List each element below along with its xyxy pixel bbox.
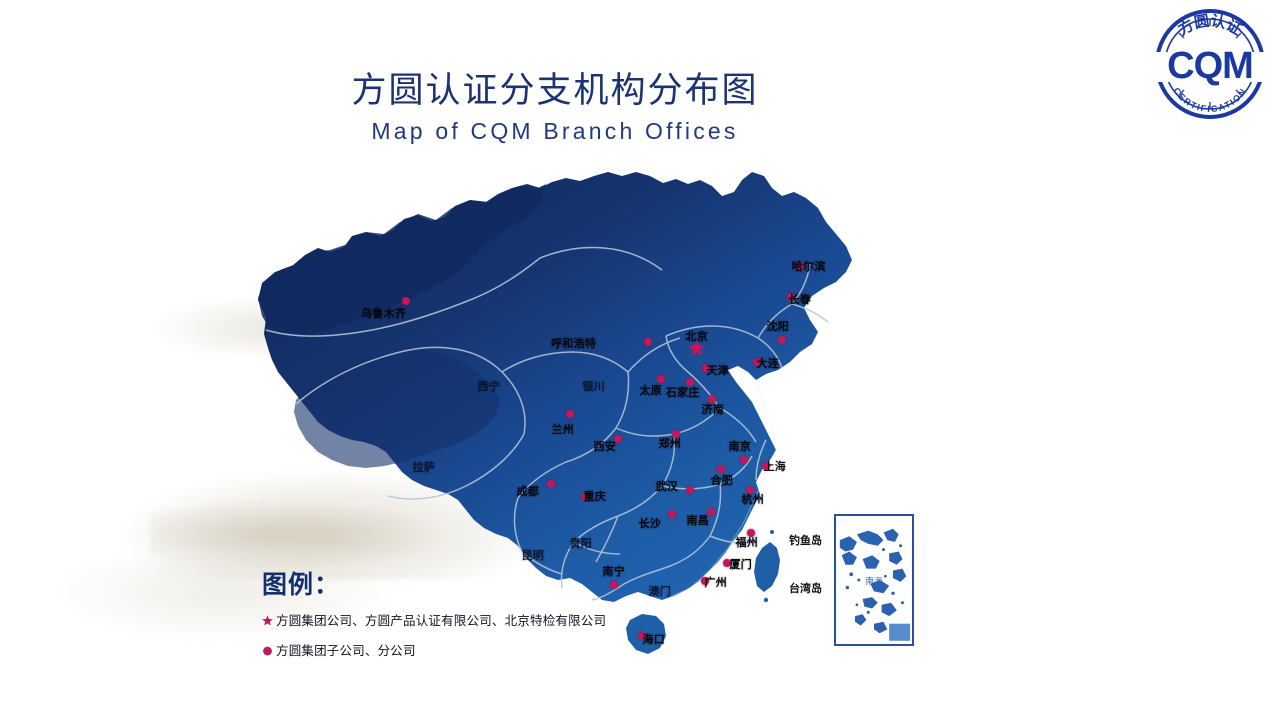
taiwan-island: [754, 542, 780, 592]
legend-title: 图例：: [262, 572, 606, 597]
city-dot-marker: [402, 297, 410, 305]
city-dot-marker: [686, 378, 694, 386]
city-label: 福州: [736, 537, 759, 548]
city-label: 上海: [764, 461, 787, 472]
legend-star-icon: [262, 614, 276, 626]
city-dot-marker: [740, 456, 748, 464]
city-dot-marker: [566, 410, 574, 418]
city-label: 沈阳: [767, 321, 790, 332]
page-title: 方圆认证分支机构分布图 Map of CQM Branch Offices: [0, 72, 1110, 145]
legend: 图例： 方圆集团公司、方圆产品认证有限公司、北京特检有限公司方圆集团子公司、分公…: [262, 572, 606, 659]
legend-item: 方圆集团子公司、分公司: [262, 640, 606, 659]
city-label: 呼和浩特: [551, 338, 596, 349]
city-label: 郑州: [659, 438, 682, 449]
legend-dot-icon: [262, 644, 276, 656]
city-label: 昆明: [522, 550, 545, 561]
city-label: 南昌: [687, 515, 710, 526]
city-label: 澳门: [649, 586, 672, 597]
city-dot-marker: [686, 486, 694, 494]
city-label: 济南: [702, 404, 725, 415]
city-label: 北京: [686, 331, 709, 342]
city-label: 太原: [640, 385, 663, 396]
cqm-logo: 方圆认证 CERTIFICATION CQM: [1146, 2, 1274, 124]
title-chinese: 方圆认证分支机构分布图: [0, 72, 1110, 111]
city-label: 西安: [594, 441, 617, 452]
city-dot-marker: [610, 581, 618, 589]
city-dot-marker: [657, 375, 665, 383]
city-label: 兰州: [552, 424, 575, 435]
city-label: 长春: [789, 294, 812, 305]
south-china-sea-inset: 南海: [834, 514, 914, 646]
city-dot-marker: [717, 465, 725, 473]
city-label: 成都: [517, 486, 540, 497]
city-label: 哈尔滨: [792, 261, 826, 272]
city-label: 武汉: [656, 481, 679, 492]
city-label: 乌鲁木齐: [361, 308, 406, 319]
city-label: 长沙: [639, 518, 662, 529]
legend-item-text: 方圆集团子公司、分公司: [276, 640, 416, 659]
title-english: Map of CQM Branch Offices: [0, 118, 1110, 145]
legend-item: 方圆集团公司、方圆产品认证有限公司、北京特检有限公司: [262, 610, 606, 629]
inset-sea-label: 南海: [865, 575, 883, 587]
city-label: 南京: [729, 441, 752, 452]
island-label: 台湾岛: [789, 580, 822, 596]
city-label: 厦门: [730, 559, 753, 570]
legend-items: 方圆集团公司、方圆产品认证有限公司、北京特检有限公司方圆集团子公司、分公司: [262, 610, 606, 659]
city-label: 海口: [643, 634, 666, 645]
city-label: 贵阳: [570, 538, 593, 549]
city-label: 重庆: [584, 491, 607, 502]
city-dot-marker: [708, 395, 716, 403]
city-label: 杭州: [742, 494, 765, 505]
city-label: 银川: [583, 381, 606, 392]
city-dot-marker: [778, 336, 786, 344]
island-label: 钓鱼岛: [789, 532, 822, 548]
city-label: 拉萨: [413, 462, 436, 473]
legend-item-text: 方圆集团公司、方圆产品认证有限公司、北京特检有限公司: [276, 610, 606, 629]
slide-canvas: 乌鲁木齐呼和浩特西宁银川兰州拉萨北京天津大连沈阳长春哈尔滨石家庄太原济南郑州西安…: [0, 0, 1280, 720]
city-dot-marker: [668, 510, 676, 518]
city-dot-marker: [644, 338, 652, 346]
city-label: 西宁: [478, 381, 501, 392]
city-dot-marker: [547, 480, 555, 488]
city-label: 天津: [707, 365, 730, 376]
city-label: 大连: [757, 358, 780, 369]
city-label: 合肥: [711, 475, 734, 486]
city-label: 石家庄: [666, 387, 700, 398]
logo-center-text: CQM: [1167, 45, 1253, 87]
city-label: 广州: [705, 577, 728, 588]
